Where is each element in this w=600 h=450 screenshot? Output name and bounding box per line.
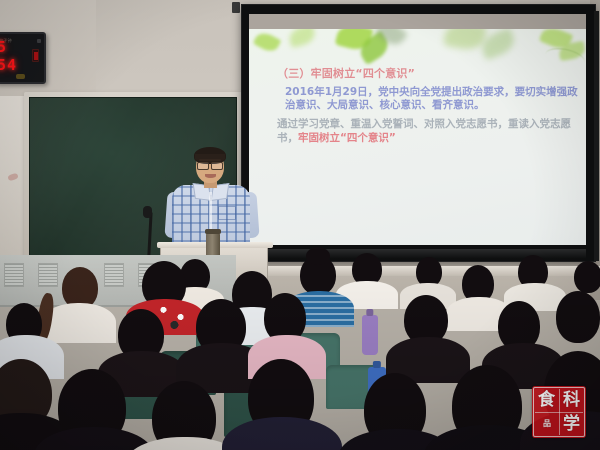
slide-title: （三）牢固树立“四个意识” xyxy=(277,67,578,82)
microphone-icon xyxy=(143,206,152,218)
leaf-decoration-icon xyxy=(287,29,317,48)
leaf-decoration-icon xyxy=(443,29,487,52)
presenter-mouth xyxy=(205,174,216,178)
audience-area xyxy=(0,255,600,450)
side-wall-panel xyxy=(0,96,26,272)
clock-seconds-led xyxy=(32,49,39,62)
clock-subdisplay xyxy=(0,64,35,71)
thermos-cup-lid xyxy=(205,229,221,234)
presenter-brow xyxy=(199,159,221,161)
digital-wall-clock: 电子钟 5 54 xyxy=(0,32,46,84)
clock-status-led-icon xyxy=(16,74,25,79)
audience-shading xyxy=(0,255,600,450)
projector-mount xyxy=(232,2,240,13)
watermark-seal: 食 科 品 学 xyxy=(532,386,586,438)
leaf-decoration-icon xyxy=(253,29,282,54)
slide-paragraph-2: 通过学习党章、重温入党誓词、对照入党志愿书，重读入党志愿书，牢固树立“四个意识” xyxy=(277,118,578,146)
slide-paragraph-2-highlight: 牢固树立“四个意识” xyxy=(298,132,396,144)
screen-top-band xyxy=(249,14,586,29)
clock-indicator-icon xyxy=(37,39,41,43)
glasses-icon xyxy=(196,162,224,168)
classroom-photo: 电子钟 5 54 xyxy=(0,0,600,450)
wall-smudge xyxy=(7,173,18,182)
slide-paragraph-1: 2016年1月29日，党中央向全党提出政治要求，要切实增强政治意识、大局意识、核… xyxy=(285,86,578,114)
projection-screen: （三）牢固树立“四个意识” 2016年1月29日，党中央向全党提出政治要求，要切… xyxy=(241,4,596,262)
screen-frame-right xyxy=(594,11,599,261)
presenter-shirt-pocket xyxy=(218,206,236,220)
screen-surface: （三）牢固树立“四个意识” 2016年1月29日，党中央向全党提出政治要求，要切… xyxy=(249,14,586,245)
seal-border xyxy=(533,387,585,437)
slide-text-block: （三）牢固树立“四个意识” 2016年1月29日，党中央向全党提出政治要求，要切… xyxy=(277,67,578,146)
presentation-slide: （三）牢固树立“四个意识” 2016年1月29日，党中央向全党提出政治要求，要切… xyxy=(249,29,586,245)
